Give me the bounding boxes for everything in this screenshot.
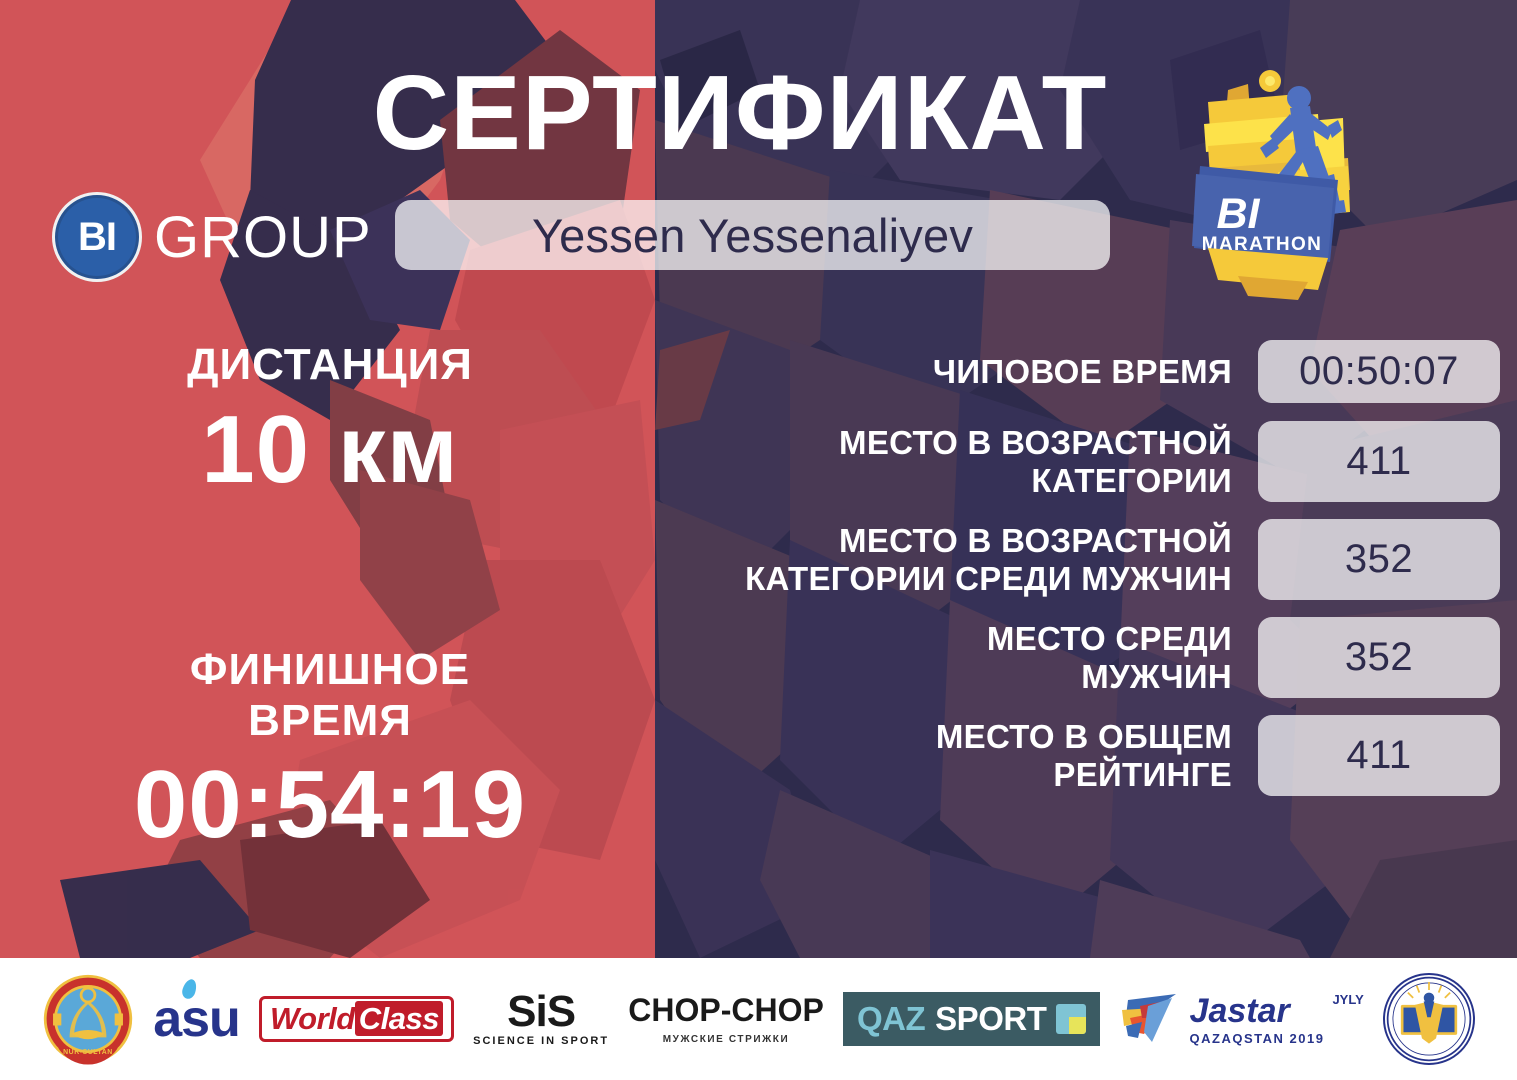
stat-row: МЕСТО СРЕДИ МУЖЧИН 352 — [620, 617, 1500, 698]
sponsor-sis: SiS SCIENCE IN SPORT — [473, 991, 609, 1048]
sponsor-nur-sultan-emblem: NUR-SULTAN — [42, 973, 134, 1065]
stat-label: МЕСТО В ОБЩЕМ РЕЙТИНГЕ — [620, 718, 1258, 793]
jastar-jyly-label: JYLY — [1332, 992, 1363, 1007]
stat-row: ЧИПОВОЕ ВРЕМЯ 00:50:07 — [620, 340, 1500, 403]
stat-row: МЕСТО В ВОЗРАСТНОЙ КАТЕГОРИИ 411 — [620, 421, 1500, 502]
sponsor-jastar-jyly: Jastar QAZAQSTAN 2019 JYLY — [1120, 988, 1364, 1050]
distance-block: ДИСТАНЦИЯ 10 км — [60, 340, 600, 502]
page-title: СЕРТИФИКАТ — [330, 58, 1150, 169]
world-class-label-1: World — [270, 1001, 355, 1036]
bi-group-logo: BI GROUP — [52, 192, 372, 282]
participant-name-text: Yessen Yessenaliyev — [532, 208, 973, 263]
stat-value: 411 — [1258, 421, 1500, 502]
bi-group-label: GROUP — [154, 204, 372, 271]
chop-chop-label: CHOP-CHOP — [628, 994, 824, 1026]
sis-label: SiS — [473, 991, 609, 1033]
participant-name-field: Yessen Yessenaliyev — [395, 200, 1110, 270]
distance-value: 10 км — [60, 397, 600, 503]
stat-value: 352 — [1258, 617, 1500, 698]
world-class-label-2: Class — [355, 1001, 443, 1036]
jastar-arrow-icon — [1120, 988, 1182, 1050]
sponsor-qazsport: QAZSPORT — [843, 992, 1100, 1046]
bi-circle-icon: BI — [52, 192, 142, 282]
stat-value: 411 — [1258, 715, 1500, 796]
marathon-bi-text: BI — [1217, 190, 1261, 238]
qazsport-mark-icon — [1056, 1004, 1086, 1034]
distance-label: ДИСТАНЦИЯ — [60, 340, 600, 391]
sponsor-world-class: WorldClass — [259, 996, 454, 1042]
finish-time-label: ФИНИШНОЕ ВРЕМЯ — [60, 645, 600, 746]
finish-time-value: 00:54:19 — [60, 752, 600, 858]
sis-tagline: SCIENCE IN SPORT — [473, 1035, 609, 1047]
stat-row: МЕСТО В ОБЩЕМ РЕЙТИНГЕ 411 — [620, 715, 1500, 796]
stat-label: ЧИПОВОЕ ВРЕМЯ — [620, 353, 1258, 391]
stat-label: МЕСТО В ВОЗРАСТНОЙ КАТЕГОРИИ СРЕДИ МУЖЧИ… — [620, 522, 1258, 597]
jastar-subtitle: QAZAQSTAN 2019 — [1190, 1032, 1325, 1045]
nur-sultan-label: NUR-SULTAN — [63, 1049, 113, 1056]
sponsor-ministry-seal — [1383, 973, 1475, 1065]
certificate: СЕРТИФИКАТ BI GROUP Yessen Yessenaliyev — [0, 0, 1517, 1080]
qazsport-label-2: SPORT — [935, 1000, 1046, 1038]
bi-marathon-logo: BI MARATHON — [1178, 62, 1378, 302]
qazsport-label-1: QAZ — [857, 1000, 925, 1038]
stat-value: 352 — [1258, 519, 1500, 600]
asu-label: asu — [153, 990, 240, 1048]
sponsor-chop-chop: CHOP-CHOP МУЖСКИЕ СТРИЖКИ — [628, 994, 824, 1045]
stat-label: МЕСТО В ВОЗРАСТНОЙ КАТЕГОРИИ — [620, 424, 1258, 499]
finish-time-block: ФИНИШНОЕ ВРЕМЯ 00:54:19 — [60, 645, 600, 858]
stat-label: МЕСТО СРЕДИ МУЖЧИН — [620, 620, 1258, 695]
chop-chop-tagline: МУЖСКИЕ СТРИЖКИ — [628, 1034, 824, 1045]
sponsor-bar: NUR-SULTAN asu WorldClass SiS SCIENCE IN… — [0, 958, 1517, 1080]
stat-value: 00:50:07 — [1258, 340, 1500, 403]
stat-row: МЕСТО В ВОЗРАСТНОЙ КАТЕГОРИИ СРЕДИ МУЖЧИ… — [620, 519, 1500, 600]
sponsor-asu: asu — [153, 989, 240, 1049]
jastar-label: Jastar — [1190, 994, 1325, 1028]
stats-list: ЧИПОВОЕ ВРЕМЯ 00:50:07 МЕСТО В ВОЗРАСТНО… — [620, 340, 1500, 813]
